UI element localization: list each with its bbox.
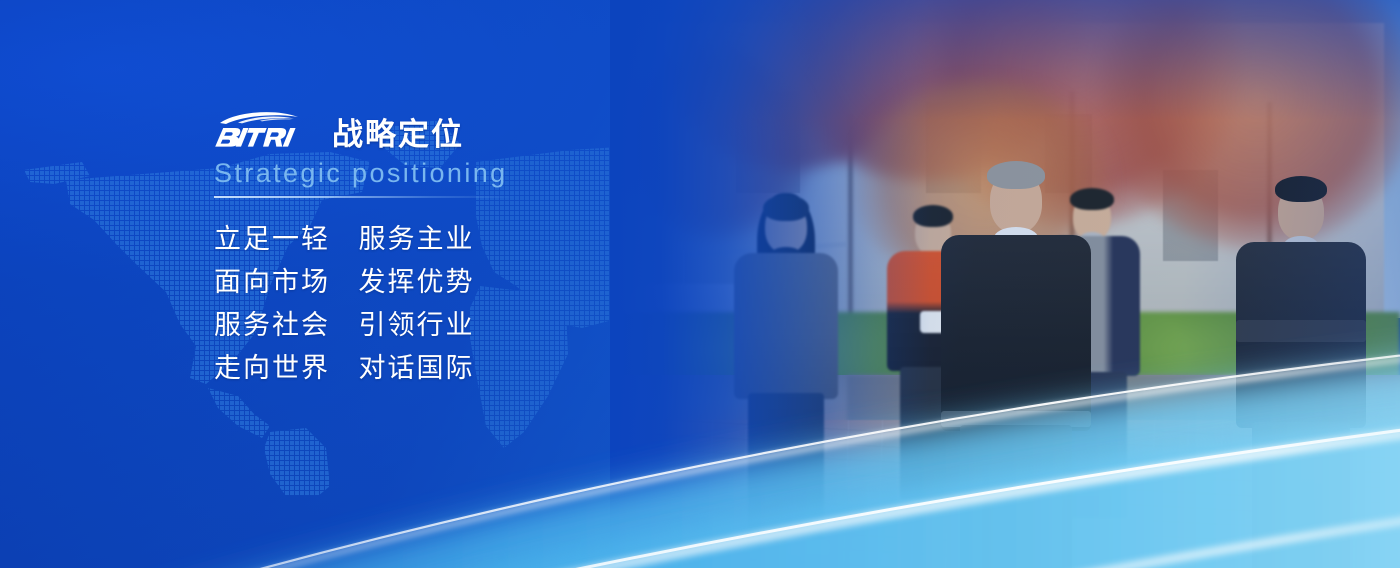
swoosh-arc-icon	[220, 112, 298, 124]
subtitle-english: Strategic positioning	[214, 158, 694, 188]
slogan-line: 立足一轻 服务主业	[214, 218, 694, 261]
light-sweep-arcs	[0, 218, 1400, 568]
slogan-list: 立足一轻 服务主业 面向市场 发挥优势 服务社会 引领行业 走向世界 对话国际	[214, 218, 694, 390]
slogan-line: 服务社会 引领行业	[214, 304, 694, 347]
title-divider	[214, 196, 514, 198]
bitri-logo	[214, 110, 318, 152]
slogan-line: 面向市场 发挥优势	[214, 261, 694, 304]
brand-lockup: 战略定位	[214, 108, 694, 152]
slogan-line: 走向世界 对话国际	[214, 347, 694, 390]
strategic-positioning-banner: 战略定位 Strategic positioning 立足一轻 服务主业 面向市…	[0, 0, 1400, 568]
banner-text-block: 战略定位 Strategic positioning 立足一轻 服务主业 面向市…	[214, 108, 694, 390]
title-chinese: 战略定位	[332, 118, 464, 152]
